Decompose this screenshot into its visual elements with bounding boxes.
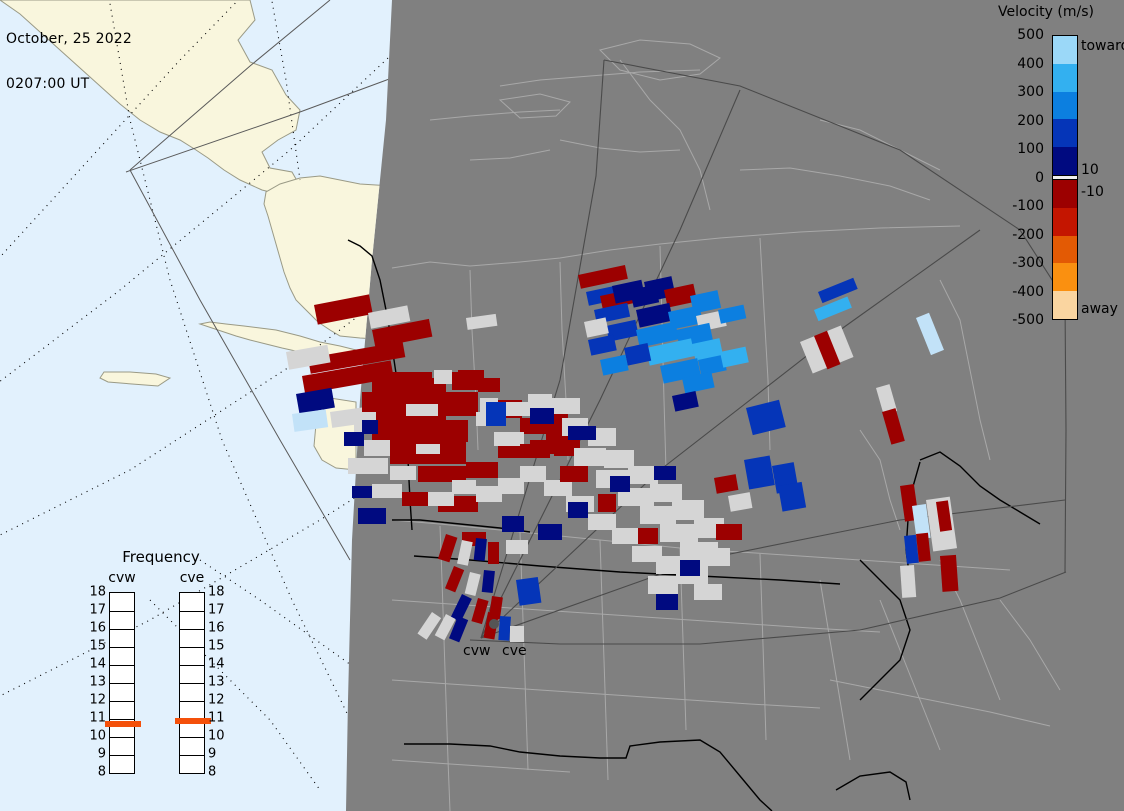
gauge-scale-tick: 17 xyxy=(89,603,106,618)
colorbar-tick: 200 xyxy=(1017,113,1044,129)
colorbar-segment xyxy=(1053,291,1077,319)
colorbar-segment xyxy=(1053,92,1077,120)
frequency-gauge-cvw: cvw 18171615141312111098 xyxy=(92,570,152,785)
frequency-panel: Frequency cvw 18171615141312111098 cve 1… xyxy=(86,548,246,788)
gauge-scale-tick: 12 xyxy=(208,693,225,708)
colorbar-gradient xyxy=(1052,35,1078,320)
colorbar-tick: 0 xyxy=(1035,170,1044,186)
timestamp-title: October, 25 2022 0207:00 UT xyxy=(6,2,132,122)
colorbar-tick: -400 xyxy=(1012,284,1044,300)
gauge-scale-tick: 15 xyxy=(208,639,225,654)
colorbar-segment xyxy=(1053,236,1077,264)
gauge-scale-tick: 17 xyxy=(208,603,225,618)
colorbar-title: Velocity (m/s) xyxy=(980,4,1112,20)
colorbar-tick: -100 xyxy=(1012,198,1044,214)
colorbar-segment xyxy=(1053,180,1077,208)
frequency-title: Frequency xyxy=(86,548,236,566)
site-label-cvw: cvw xyxy=(463,643,490,659)
radar-site-dot xyxy=(489,619,499,629)
frequency-gauge-cve: cve 18171615141312111098 xyxy=(162,570,222,785)
gauge-scale-tick: 14 xyxy=(208,657,225,672)
colorbar-segment xyxy=(1053,36,1077,64)
gauge-scale-tick: 8 xyxy=(208,765,216,780)
gauge-scale-tick: 16 xyxy=(208,621,225,636)
gauge-scale-tick: 16 xyxy=(89,621,106,636)
colorbar-tick: 300 xyxy=(1017,84,1044,100)
colorbar-away-label: away xyxy=(1081,301,1118,317)
colorbar-tick: -500 xyxy=(1012,312,1044,328)
colorbar-tick: 100 xyxy=(1017,141,1044,157)
title-date: October, 25 2022 xyxy=(6,32,132,47)
gauge-scale-tick: 14 xyxy=(89,657,106,672)
colorbar-toward-label: toward xyxy=(1081,38,1124,54)
colorbar-segment xyxy=(1053,64,1077,92)
gauge-scale-tick: 10 xyxy=(208,729,225,744)
gauge-scale-tick: 8 xyxy=(98,765,106,780)
gauge-scale-tick: 12 xyxy=(89,693,106,708)
colorbar-zero-upper-label: 10 xyxy=(1081,162,1099,178)
colorbar-zero-lower-label: -10 xyxy=(1081,184,1104,200)
gauge-scale-tick: 15 xyxy=(89,639,106,654)
gauge-scale-tick: 11 xyxy=(208,711,225,726)
gauge-scale-labels: 18171615141312111098 xyxy=(162,592,222,774)
gauge-scale-tick: 18 xyxy=(208,585,225,600)
colorbar-tick: -300 xyxy=(1012,255,1044,271)
colorbar-segment xyxy=(1053,208,1077,236)
colorbar-segment xyxy=(1053,147,1077,175)
gauge-scale-tick: 11 xyxy=(89,711,106,726)
gauge-scale-labels: 18171615141312111098 xyxy=(92,592,152,774)
gauge-scale-tick: 18 xyxy=(89,585,106,600)
colorbar-tick: -200 xyxy=(1012,227,1044,243)
colorbar-side-labels: toward10-10away xyxy=(1081,35,1124,320)
title-time: 0207:00 UT xyxy=(6,77,132,92)
colorbar-tick-labels: 5004003002001000-100-200-300-400-500 xyxy=(980,35,1048,320)
site-label-cve: cve xyxy=(502,643,527,659)
colorbar-tick: 500 xyxy=(1017,27,1044,43)
gauge-scale-tick: 9 xyxy=(98,747,106,762)
gauge-scale-tick: 13 xyxy=(208,675,225,690)
gauge-scale-tick: 9 xyxy=(208,747,216,762)
radar-map-view: October, 25 2022 0207:00 UT Velocity (m/… xyxy=(0,0,1124,811)
colorbar-tick: 400 xyxy=(1017,56,1044,72)
velocity-colorbar-panel: Velocity (m/s) 5004003002001000-100-200-… xyxy=(980,0,1124,330)
gauge-scale-tick: 13 xyxy=(89,675,106,690)
colorbar-segment xyxy=(1053,119,1077,147)
gauge-scale-tick: 10 xyxy=(89,729,106,744)
colorbar-segment xyxy=(1053,263,1077,291)
